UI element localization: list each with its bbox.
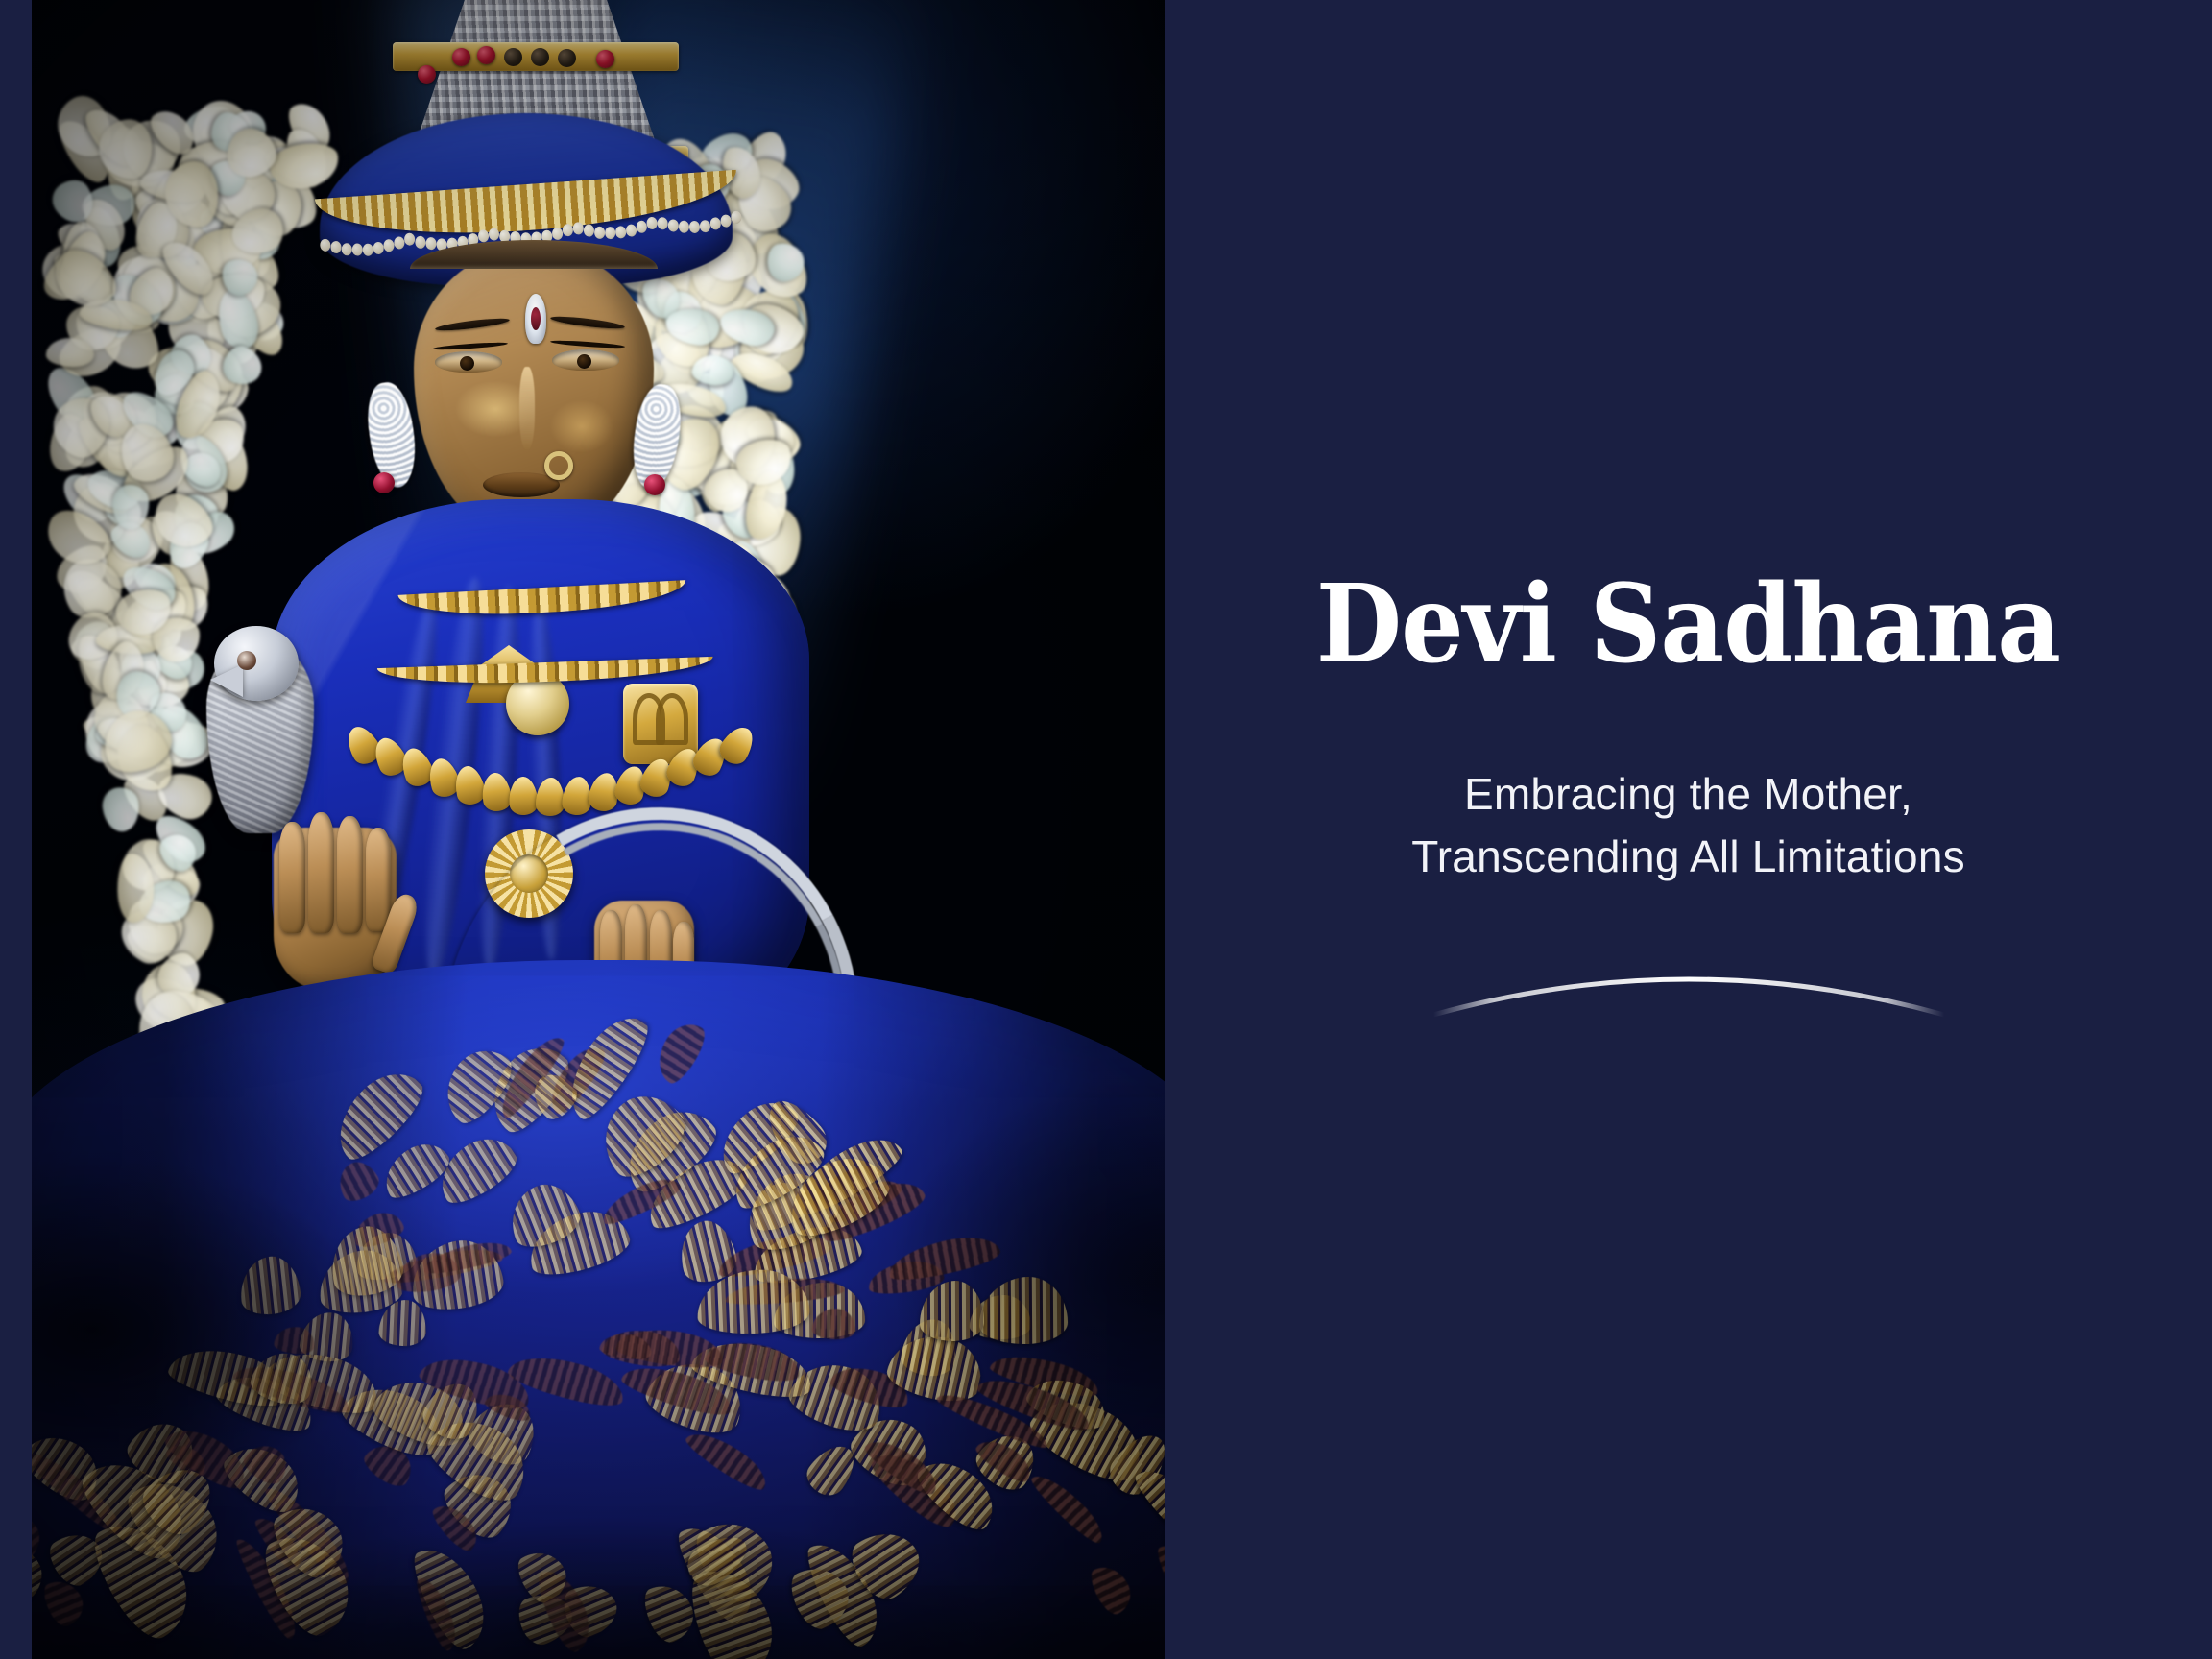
- pearl-bead: [626, 224, 637, 237]
- tilaka-ornament: [525, 294, 546, 344]
- right-eye: [552, 349, 619, 371]
- page-title: Devi Sadhana: [1316, 571, 2060, 679]
- pearl-bead: [478, 229, 490, 243]
- pearl-bead: [636, 221, 647, 234]
- pearl-bead: [415, 235, 426, 249]
- text-panel: Devi Sadhana Embracing the Mother, Trans…: [1165, 0, 2212, 1659]
- crown-ruby: [477, 46, 495, 64]
- pearl-bead: [615, 226, 627, 239]
- brocade-dark-motif: [331, 1155, 383, 1206]
- gold-leaf-bead: [536, 778, 565, 816]
- crown-dark-gem: [504, 48, 522, 66]
- brocade-dark-motif: [682, 1423, 774, 1496]
- nose-ring: [544, 451, 573, 480]
- crown-dark-gem: [531, 48, 549, 66]
- pearl-bead: [657, 217, 668, 230]
- pearl-bead: [425, 237, 437, 251]
- pearl-bead: [351, 244, 363, 257]
- hand-finger: [337, 816, 363, 933]
- pearl-bead: [373, 242, 384, 255]
- pearl-bead: [383, 239, 395, 252]
- presentation-slide: Devi Sadhana Embracing the Mother, Trans…: [0, 0, 2212, 1659]
- brocade-gold-motif: [979, 1277, 1068, 1344]
- pearl-bead: [699, 220, 710, 233]
- pearl-bead: [330, 241, 342, 254]
- crown-dark-gem: [558, 49, 576, 67]
- silver-parrot-beak: [210, 664, 243, 697]
- pearl-bead: [720, 214, 732, 228]
- pearl-bead: [689, 221, 701, 234]
- hand-finger: [366, 828, 391, 931]
- crown-ruby: [596, 50, 614, 68]
- pearl-bead: [584, 225, 595, 238]
- brocade-gold-motif: [237, 1254, 302, 1317]
- pearl-bead: [362, 243, 373, 256]
- pearl-bead: [605, 227, 616, 240]
- pearl-bead: [394, 236, 405, 250]
- pearl-bead: [678, 220, 689, 233]
- pearl-bead: [572, 222, 584, 235]
- crown-ruby: [418, 65, 436, 84]
- pearl-bead: [320, 238, 331, 252]
- blue-gold-brocade-saree: [32, 960, 1165, 1659]
- pearl-bead: [552, 227, 564, 240]
- gold-leaf-bead: [479, 771, 514, 813]
- pearl-bead: [489, 228, 500, 241]
- pearl-bead: [594, 226, 606, 239]
- gold-leaf-bead: [508, 776, 540, 816]
- arc-swoosh-divider: [1430, 940, 1948, 1032]
- hand-finger: [279, 822, 305, 933]
- brocade-gold-motif: [374, 1134, 455, 1206]
- pearl-bead: [341, 243, 352, 256]
- left-ear-ruby: [373, 472, 395, 493]
- brocade-gold-motif: [920, 1281, 985, 1341]
- brocade-dark-motif: [1150, 1536, 1165, 1633]
- hand-finger: [308, 812, 334, 933]
- pearl-bead: [404, 233, 416, 247]
- pearl-bead: [562, 224, 573, 237]
- pearl-bead: [667, 219, 679, 232]
- brocade-dark-motif: [649, 1016, 712, 1089]
- crown-ruby: [452, 48, 470, 66]
- left-eye: [435, 351, 502, 373]
- pearl-bead: [646, 217, 658, 230]
- devi-idol-photo: [32, 0, 1165, 1659]
- page-subtitle: Embracing the Mother, Transcending All L…: [1411, 763, 1965, 889]
- nose: [519, 367, 535, 449]
- brocade-dark-motif: [1086, 1559, 1138, 1619]
- silver-parrot-eye: [237, 651, 256, 670]
- pearl-bead: [709, 217, 721, 230]
- brocade-dark-motif: [885, 1230, 1003, 1286]
- brocade-dark-motif: [1027, 1466, 1110, 1547]
- right-ear-ruby: [644, 474, 665, 495]
